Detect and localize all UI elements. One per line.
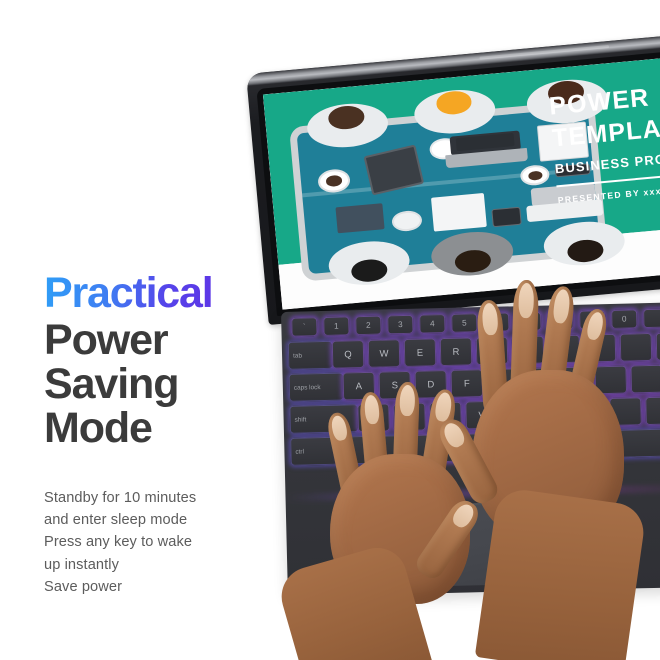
key-x[interactable]: X xyxy=(393,403,426,432)
key-o[interactable] xyxy=(620,333,653,362)
camera-strip-icon xyxy=(479,45,609,60)
slide-title: POWER TEMPLA xyxy=(548,71,660,154)
key-l[interactable] xyxy=(630,365,660,394)
laptop-icon xyxy=(530,183,596,207)
tablet-icon xyxy=(363,145,423,196)
table-divider xyxy=(302,167,594,198)
key-a[interactable]: A xyxy=(342,372,375,401)
presentation-slide: POWER TEMPLA BUSINESS PRO PRESENTED BY x… xyxy=(263,54,660,310)
left-wrist xyxy=(275,541,434,660)
slide-subtitle: BUSINESS PRO xyxy=(554,141,660,176)
slide-divider xyxy=(556,169,660,188)
left-little-finger xyxy=(325,411,365,502)
key-8[interactable]: 8 xyxy=(547,311,573,331)
key-backtick[interactable]: ` xyxy=(291,317,317,337)
slide-credit: PRESENTED BY xxx xyxy=(557,176,660,206)
page-title: Power Saving Mode xyxy=(44,318,274,451)
key-v[interactable]: V xyxy=(465,401,498,430)
key-k[interactable] xyxy=(594,366,627,395)
person-figure xyxy=(525,76,610,126)
laptop-icon xyxy=(449,130,521,156)
key-6[interactable] xyxy=(483,312,509,332)
right-hand xyxy=(470,300,660,660)
key-c[interactable]: C xyxy=(429,402,462,431)
key-4[interactable]: 4 xyxy=(419,314,445,334)
trackpad[interactable] xyxy=(392,501,586,588)
document-icon xyxy=(431,193,487,232)
key-b[interactable] xyxy=(501,400,534,429)
smartphone-icon xyxy=(555,163,591,177)
left-thumb xyxy=(412,496,483,583)
key-1[interactable]: 1 xyxy=(323,316,349,336)
meeting-table-illustration xyxy=(289,99,609,282)
lid-chrome-edge xyxy=(246,31,660,86)
key-s[interactable]: S xyxy=(378,371,411,400)
key-ctrl[interactable]: ctrl xyxy=(290,437,340,466)
backlight-glow xyxy=(285,484,660,502)
key-fn[interactable] xyxy=(338,436,378,465)
key-0[interactable]: 0 xyxy=(611,309,637,329)
person-figure xyxy=(326,238,411,288)
right-index-finger xyxy=(476,299,509,416)
right-little-finger xyxy=(565,307,610,410)
headline-accent-word: Practical xyxy=(44,272,213,316)
key-f[interactable]: F xyxy=(450,369,483,398)
key-r[interactable]: R xyxy=(440,337,473,366)
keyboard[interactable]: ` 1 2 3 4 5 8 9 0 tab Q W E R T xyxy=(287,306,660,492)
key-j[interactable] xyxy=(558,366,591,395)
key-t[interactable]: T xyxy=(476,336,509,365)
notebook-icon xyxy=(536,121,589,162)
key-g[interactable]: G xyxy=(486,368,519,397)
key-7[interactable] xyxy=(515,312,541,332)
coffee-cup-icon xyxy=(317,168,351,193)
key-comma[interactable] xyxy=(609,397,642,426)
right-palm xyxy=(472,370,624,540)
left-palm xyxy=(330,454,470,604)
person-figure xyxy=(430,228,515,278)
key-w[interactable]: W xyxy=(368,339,401,368)
laptop-screen: POWER TEMPLA BUSINESS PRO PRESENTED BY x… xyxy=(263,54,660,310)
key-z[interactable]: Z xyxy=(357,403,390,432)
key-space[interactable] xyxy=(414,431,575,463)
books-icon xyxy=(335,204,384,234)
left-index-finger xyxy=(418,388,458,494)
laptop-base-icon xyxy=(445,148,528,168)
screen-bezel: POWER TEMPLA BUSINESS PRO PRESENTED BY x… xyxy=(256,48,660,316)
person-figure xyxy=(542,218,627,268)
person-figure xyxy=(305,101,390,151)
person-figure xyxy=(412,87,497,137)
laptop-base-icon xyxy=(526,199,603,221)
key-q[interactable]: Q xyxy=(332,340,365,369)
key-9[interactable]: 9 xyxy=(579,310,605,330)
laptop-base: ` 1 2 3 4 5 8 9 0 tab Q W E R T xyxy=(281,302,660,597)
key-shift[interactable]: shift xyxy=(289,404,359,434)
key-3[interactable]: 3 xyxy=(387,315,413,335)
body-copy: Standby for 10 minutes and enter sleep m… xyxy=(44,487,259,598)
key-i[interactable] xyxy=(584,334,617,363)
key-d[interactable]: D xyxy=(414,370,447,399)
key-u[interactable] xyxy=(548,335,581,364)
key-m[interactable] xyxy=(573,398,606,427)
key-y[interactable] xyxy=(512,336,545,365)
headline-block: Practical Power Saving Mode xyxy=(44,272,274,451)
smartphone-icon xyxy=(491,207,522,228)
right-thumb xyxy=(435,415,502,508)
right-ring-finger xyxy=(537,285,576,407)
laptop-lid: POWER TEMPLA BUSINESS PRO PRESENTED BY x… xyxy=(246,31,660,325)
key-minus[interactable] xyxy=(643,309,660,329)
key-p[interactable] xyxy=(656,332,660,361)
left-middle-finger xyxy=(392,382,420,495)
key-caps-lock[interactable]: caps lock xyxy=(289,372,345,401)
coffee-cup-icon xyxy=(392,210,423,232)
key-e[interactable]: E xyxy=(404,338,437,367)
key-alt[interactable] xyxy=(376,435,416,464)
key-h[interactable] xyxy=(522,367,555,396)
laptop-screen-icon xyxy=(455,133,514,151)
right-wrist xyxy=(475,486,647,660)
left-ring-finger xyxy=(359,391,391,497)
key-period[interactable] xyxy=(645,396,660,425)
right-middle-finger xyxy=(510,280,539,407)
poster-canvas: Practical Power Saving Mode Standby for … xyxy=(0,0,660,660)
left-hand xyxy=(330,404,520,660)
key-5[interactable]: 5 xyxy=(451,313,477,333)
key-arrow-keys[interactable] xyxy=(616,428,660,458)
key-tab[interactable]: tab xyxy=(288,341,334,370)
keyboard-deck xyxy=(281,302,660,597)
slide-text-panel: POWER TEMPLA BUSINESS PRO PRESENTED BY x… xyxy=(548,71,660,206)
coffee-cup-icon xyxy=(520,164,551,186)
key-alt-right[interactable] xyxy=(578,430,618,459)
slide-floor xyxy=(278,224,660,310)
key-2[interactable]: 2 xyxy=(355,316,381,336)
slide-background xyxy=(263,54,660,265)
key-n[interactable] xyxy=(537,399,570,428)
coffee-cup-icon xyxy=(429,137,460,161)
